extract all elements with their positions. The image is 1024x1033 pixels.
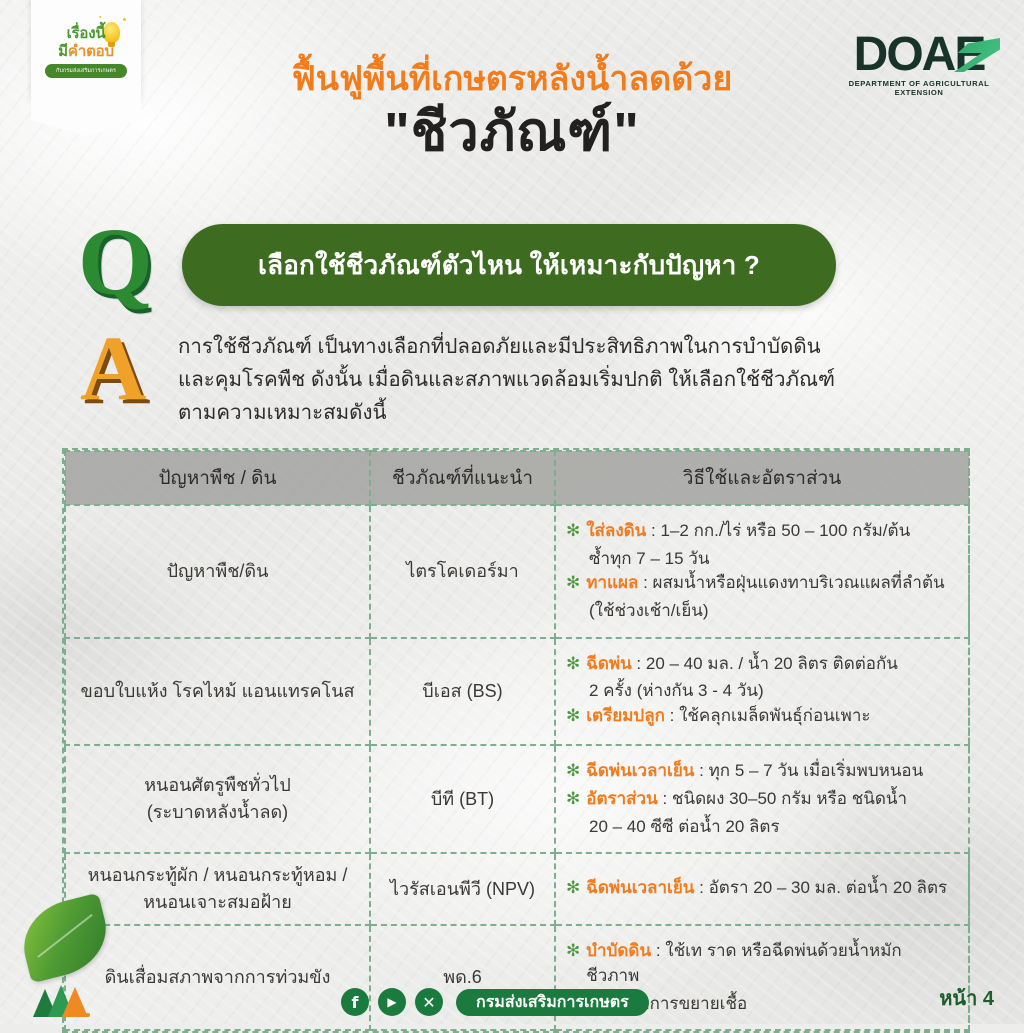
asterisk-icon: ✻ [566,876,580,901]
problem-line: ปัญหาพืช/ดิน [76,558,359,585]
usage-detail: : ชนิดผง 30–50 กรัม หรือ ชนิดน้ำ [658,789,907,808]
cell-agent: ไวรัสเอนพีวี (NPV) [370,853,555,925]
problem-line: หนอนกระทู้ผัก / หนอนกระทู้หอม / [76,862,359,889]
answer-line: ตามความเหมาะสมดังนี้ [178,396,968,429]
usage-detail: : ทุก 5 – 7 วัน เมื่อเริ่มพบหนอน [694,761,923,780]
problem-line: หนอนเจาะสมอฝ้าย [76,889,359,916]
usage-detail: : อัตรา 20 – 30 มล. ต่อน้ำ 20 ลิตร [694,878,947,897]
usage-text-wrap: ทาแผล : ผสมน้ำหรือฝุ่นแดงทาบริเวณแผลที่ล… [586,571,944,596]
column-header-problem: ปัญหาพืช / ดิน [65,451,370,505]
youtube-icon[interactable]: ▶ [378,988,406,1016]
usage-bullet: ✻เตรียมปลูก : ใช้คลุกเมล็ดพันธุ์ก่อนเพาะ [566,704,954,729]
usage-bullet: ✻ฉีดพ่นเวลาเย็น : ทุก 5 – 7 วัน เมื่อเริ… [566,759,954,784]
asterisk-icon: ✻ [566,759,580,784]
problem-line: (ระบาดหลังน้ำลด) [76,799,359,826]
usage-bullet: ✻ทาแผล : ผสมน้ำหรือฝุ่นแดงทาบริเวณแผลที่… [566,571,954,596]
cell-problem: ขอบใบแห้ง โรคไหม้ แอนแทรคโนส [65,638,370,746]
question-pill: เลือกใช้ชีวภัณฑ์ตัวไหน ให้เหมาะกับปัญหา … [182,224,836,306]
a-letter: A [80,322,146,414]
asterisk-icon: ✻ [566,704,580,729]
usage-text-wrap: ใส่ลงดิน : 1–2 กก./ไร่ หรือ 50 – 100 กรั… [586,519,910,544]
cell-problem: หนอนศัตรูพืชทั่วไป(ระบาดหลังน้ำลด) [65,745,370,853]
org-name-pill: กรมส่งเสริมการเกษตร [456,989,649,1016]
usage-bullet: ✻ฉีดพ่น : 20 – 40 มล. / น้ำ 20 ลิตร ติดต… [566,652,954,677]
usage-detail: : ผสมน้ำหรือฝุ่นแดงทาบริเวณแผลที่ลำต้น [638,573,944,592]
cell-problem: ปัญหาพืช/ดิน [65,505,370,638]
badge-line2-green: มี [58,43,68,60]
recommendation-table: ปัญหาพืช / ดิน ชีวภัณฑ์ที่แนะนำ วิธีใช้แ… [62,448,970,1033]
cell-usage: ✻ฉีดพ่นเวลาเย็น : อัตรา 20 – 30 มล. ต่อน… [555,853,969,925]
page-number: หน้า 4 [939,982,994,1014]
table-row: หนอนกระทู้ผัก / หนอนกระทู้หอม /หนอนเจาะส… [65,853,969,925]
usage-continuation: 2 ครั้ง (ห่างกัน 3 - 4 วัน) [589,679,954,704]
headline-line2: "ชีวภัณฑ์" [0,103,1024,162]
asterisk-icon: ✻ [566,939,580,964]
cell-usage: ✻ฉีดพ่นเวลาเย็น : ทุก 5 – 7 วัน เมื่อเริ… [555,745,969,853]
usage-label: ทาแผล [586,573,638,592]
answer-line: และคุมโรคพืช ดังนั้น เมื่อดินและสภาพแวดล… [178,363,968,396]
usage-continuation: (ใช้ช่วงเช้า/เย็น) [589,599,954,624]
badge-line2: มีคำตอบ [40,44,132,59]
usage-label: บำบัดดิน [586,941,651,960]
badge-line2-orange: คำตอบ [68,43,114,60]
asterisk-icon: ✻ [566,571,580,596]
answer-line: การใช้ชีวภัณฑ์ เป็นทางเลือกที่ปลอดภัยและ… [178,330,968,363]
usage-label: ใส่ลงดิน [586,521,646,540]
usage-detail: : 1–2 กก./ไร่ หรือ 50 – 100 กรัม/ต้น [646,521,910,540]
asterisk-icon: ✻ [566,652,580,677]
usage-continuation: ซ้ำทุก 7 – 15 วัน [589,547,954,572]
problem-line: ขอบใบแห้ง โรคไหม้ แอนแทรคโนส [76,678,359,705]
ministry-logo [33,985,89,1017]
asterisk-icon: ✻ [566,787,580,812]
cell-agent: บีที (BT) [370,745,555,853]
social-links: f ▶ ✕ กรมส่งเสริมการเกษตร [341,988,649,1016]
answer-block: A การใช้ชีวภัณฑ์ เป็นทางเลือกที่ปลอดภัยแ… [78,330,968,430]
usage-detail: : 20 – 40 มล. / น้ำ 20 ลิตร ติดต่อกัน [632,654,898,673]
table-row: หนอนศัตรูพืชทั่วไป(ระบาดหลังน้ำลด)บีที (… [65,745,969,853]
q-letter: Q [78,214,153,310]
cell-agent: ไตรโคเดอร์มา [370,505,555,638]
footer: f ▶ ✕ กรมส่งเสริมการเกษตร หน้า 4 [0,978,1024,1024]
usage-bullet: ✻อัตราส่วน : ชนิดผง 30–50 กรัม หรือ ชนิด… [566,787,954,812]
table-header-row: ปัญหาพืช / ดิน ชีวภัณฑ์ที่แนะนำ วิธีใช้แ… [65,451,969,505]
table-row: ปัญหาพืช/ดินไตรโคเดอร์มา✻ใส่ลงดิน : 1–2 … [65,505,969,638]
usage-label: อัตราส่วน [586,789,657,808]
usage-label: ฉีดพ่น [586,654,631,673]
cell-problem: หนอนกระทู้ผัก / หนอนกระทู้หอม /หนอนเจาะส… [65,853,370,925]
headline-line1: ฟื้นฟูพื้นที่เกษตรหลังน้ำลดด้วย [0,60,1024,99]
usage-label: ฉีดพ่นเวลาเย็น [586,761,694,780]
cell-usage: ✻ฉีดพ่น : 20 – 40 มล. / น้ำ 20 ลิตร ติดต… [555,638,969,746]
table-row: ขอบใบแห้ง โรคไหม้ แอนแทรคโนสบีเอส (BS)✻ฉ… [65,638,969,746]
usage-text-wrap: ฉีดพ่น : 20 – 40 มล. / น้ำ 20 ลิตร ติดต่… [586,652,898,677]
table-body: ปัญหาพืช/ดินไตรโคเดอร์มา✻ใส่ลงดิน : 1–2 … [65,505,969,1030]
usage-detail: : ใช้คลุกเมล็ดพันธุ์ก่อนเพาะ [665,706,871,725]
problem-line: หนอนศัตรูพืชทั่วไป [76,772,359,799]
usage-label: เตรียมปลูก [586,706,665,725]
answer-text: การใช้ชีวภัณฑ์ เป็นทางเลือกที่ปลอดภัยและ… [178,330,968,430]
usage-continuation: 20 – 40 ซีซี ต่อน้ำ 20 ลิตร [589,815,954,840]
question-block: Q เลือกใช้ชีวภัณฑ์ตัวไหน ให้เหมาะกับปัญห… [78,218,958,318]
cell-usage: ✻ใส่ลงดิน : 1–2 กก./ไร่ หรือ 50 – 100 กร… [555,505,969,638]
facebook-icon[interactable]: f [341,988,369,1016]
usage-text-wrap: ฉีดพ่นเวลาเย็น : ทุก 5 – 7 วัน เมื่อเริ่… [586,759,923,784]
column-header-agent: ชีวภัณฑ์ที่แนะนำ [370,451,555,505]
usage-text-wrap: เตรียมปลูก : ใช้คลุกเมล็ดพันธุ์ก่อนเพาะ [586,704,870,729]
usage-text-wrap: ฉีดพ่นเวลาเย็น : อัตรา 20 – 30 มล. ต่อน้… [586,876,947,901]
question-text: เลือกใช้ชีวภัณฑ์ตัวไหน ให้เหมาะกับปัญหา … [258,245,760,286]
page-title: ฟื้นฟูพื้นที่เกษตรหลังน้ำลดด้วย "ชีวภัณฑ… [0,60,1024,162]
column-header-usage: วิธีใช้และอัตราส่วน [555,451,969,505]
asterisk-icon: ✻ [566,519,580,544]
usage-bullet: ✻ใส่ลงดิน : 1–2 กก./ไร่ หรือ 50 – 100 กร… [566,519,954,544]
usage-label: ฉีดพ่นเวลาเย็น [586,878,694,897]
usage-bullet: ✻ฉีดพ่นเวลาเย็น : อัตรา 20 – 30 มล. ต่อน… [566,876,954,901]
badge-line1: เรื่องนี้ [40,26,132,41]
usage-text-wrap: อัตราส่วน : ชนิดผง 30–50 กรัม หรือ ชนิดน… [586,787,907,812]
cell-agent: บีเอส (BS) [370,638,555,746]
x-icon[interactable]: ✕ [415,988,443,1016]
